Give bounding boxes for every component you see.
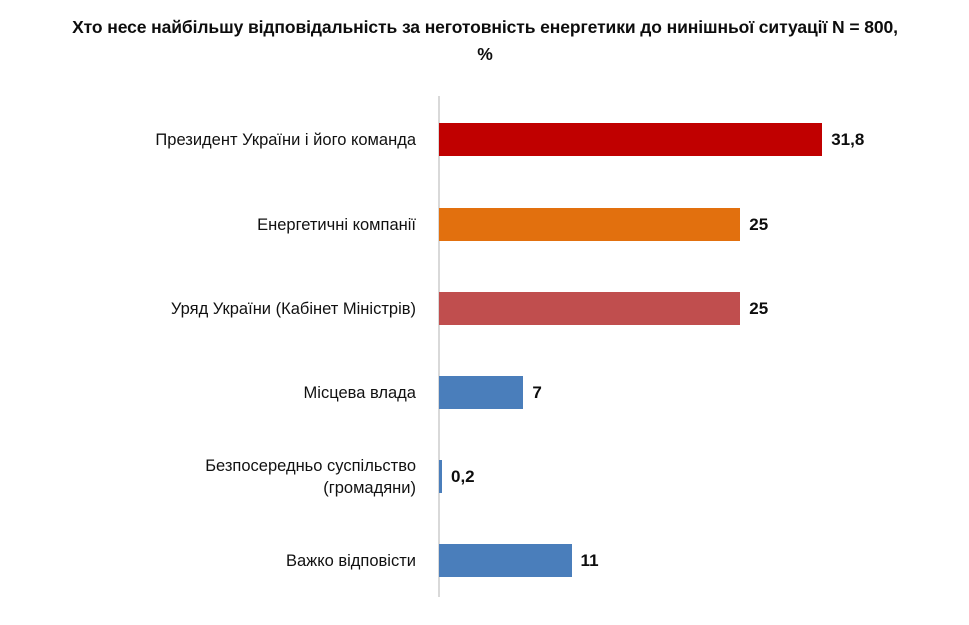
bar-value-label: 25 [749, 215, 768, 235]
bar-row: Важко відповісти 11 [0, 544, 969, 577]
bar-value-label: 11 [581, 551, 599, 571]
plot-area: Президент України і його команда 31,8 Ен… [0, 0, 969, 625]
bar-value-label: 0,2 [451, 467, 475, 487]
category-label: Місцева влада [56, 382, 416, 404]
bar-value-label: 31,8 [831, 130, 864, 150]
bar-segment [439, 292, 740, 325]
bar-segment [439, 123, 822, 156]
value-axis-line [438, 96, 440, 597]
category-label: Уряд України (Кабінет Міністрів) [56, 298, 416, 320]
bar-segment [439, 544, 572, 577]
bar-row: Місцева влада 7 [0, 376, 969, 409]
chart-container: Хто несе найбільшу відповідальність за н… [0, 0, 969, 625]
category-label: Президент України і його команда [56, 129, 416, 151]
bar-segment [439, 208, 740, 241]
bar-value-label: 7 [532, 383, 541, 403]
bar-row: Енергетичні компанії 25 [0, 208, 969, 241]
category-label: Важко відповісти [56, 550, 416, 572]
bar-row: Уряд України (Кабінет Міністрів) 25 [0, 292, 969, 325]
category-label: Енергетичні компанії [56, 214, 416, 236]
bar-segment [439, 376, 523, 409]
bar-row: Безпосередньо суспільство (громадяни) 0,… [0, 460, 969, 493]
bar-value-label: 25 [749, 299, 768, 319]
bar-row: Президент України і його команда 31,8 [0, 123, 969, 156]
category-label: Безпосередньо суспільство (громадяни) [56, 455, 416, 499]
bar-segment [439, 460, 442, 493]
